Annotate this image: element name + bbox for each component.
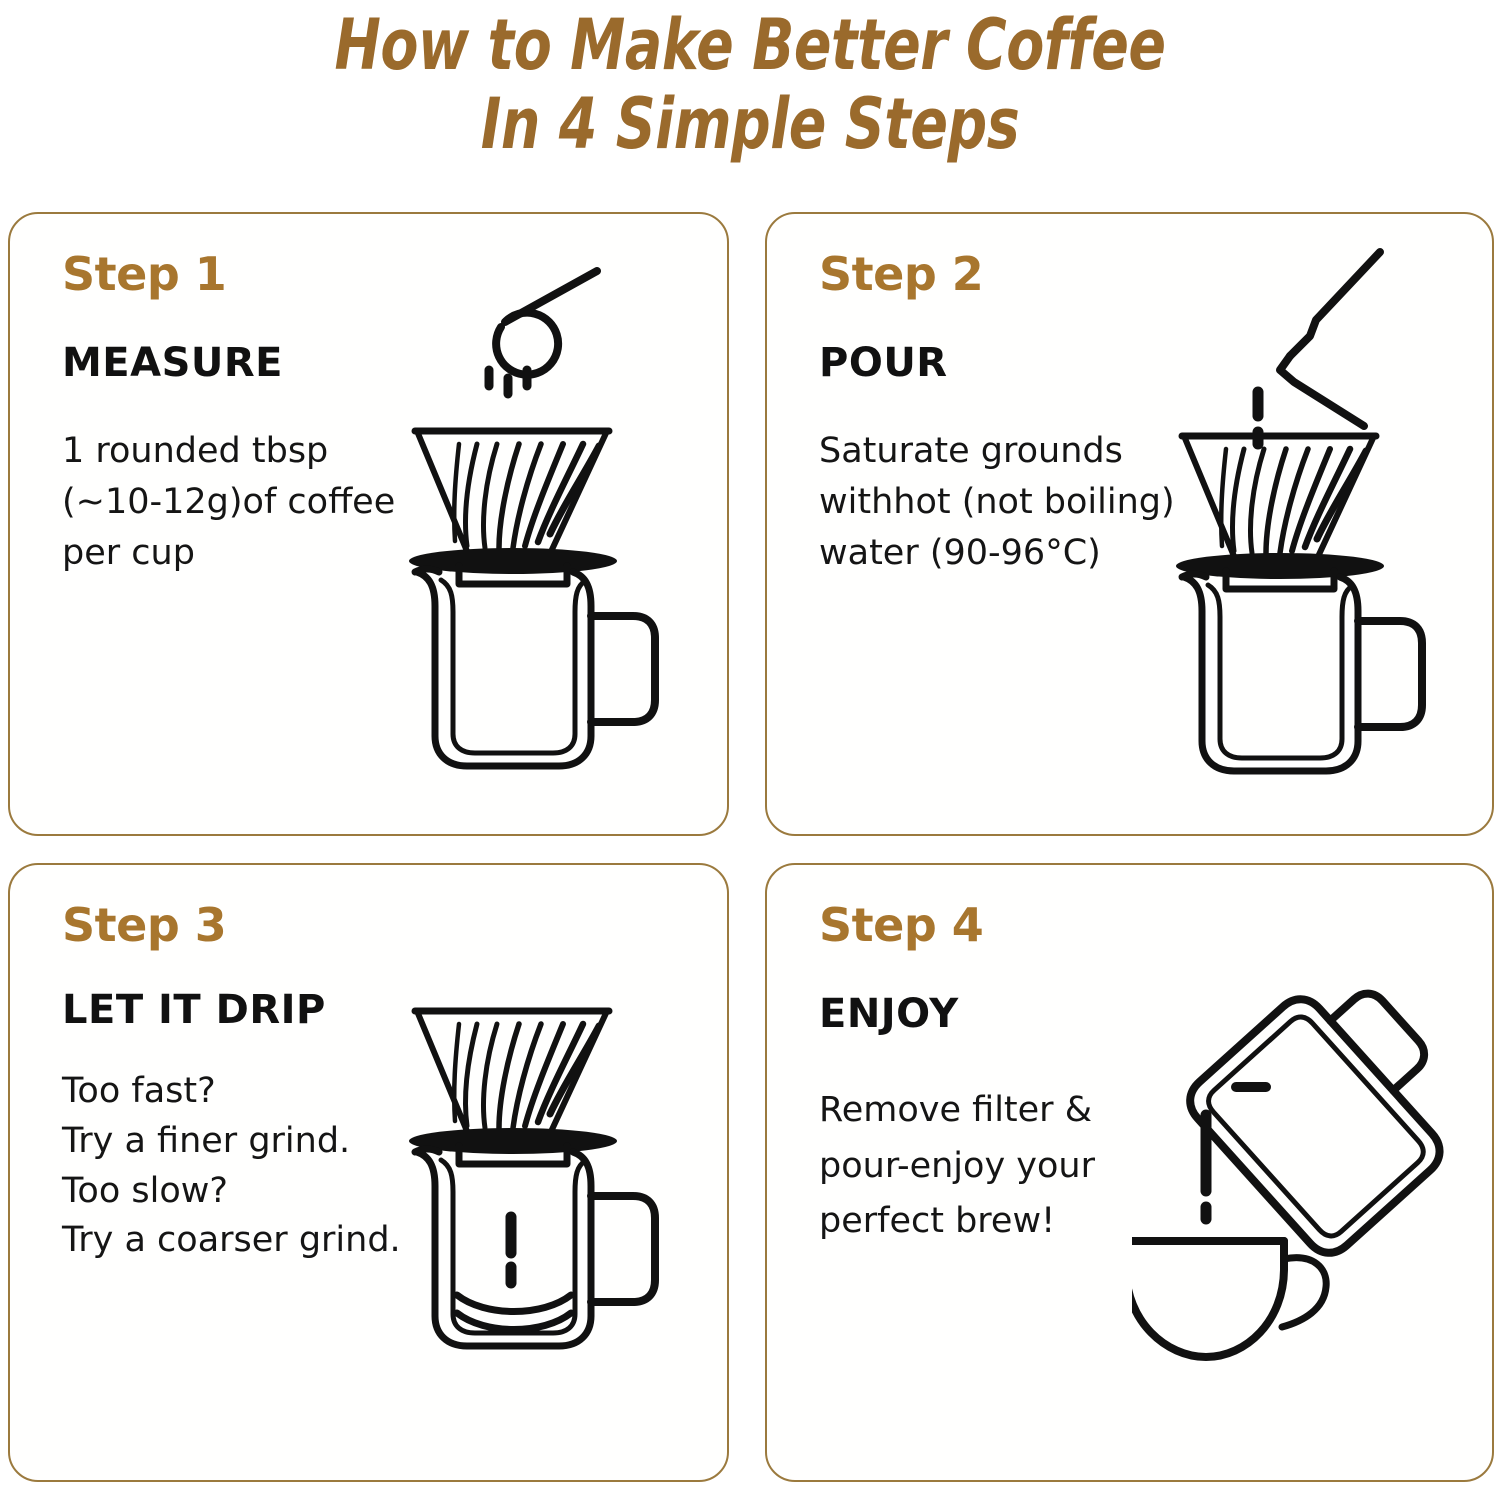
step-card-4-label: Step 4 <box>819 901 1225 949</box>
step-card-2-body-line-2: withhot (not boiling) <box>819 477 1225 528</box>
step-card-4[interactable]: Step 4 ENJOY Remove filter & pour-enjoy … <box>765 863 1494 1482</box>
step-card-2-body-line-1: Saturate grounds <box>819 426 1225 477</box>
step-card-2-action: POUR <box>819 342 1225 384</box>
page-title: How to Make Better Coffee In 4 Simple St… <box>0 0 1500 164</box>
step-card-2[interactable]: Step 2 POUR Saturate grounds withhot (no… <box>765 212 1494 836</box>
measure-illustration <box>401 254 721 834</box>
drip-illustration <box>401 995 721 1480</box>
page-title-line-1: How to Make Better Coffee <box>90 6 1410 85</box>
step-card-2-body: Saturate grounds withhot (not boiling) w… <box>819 426 1225 579</box>
step-card-3[interactable]: Step 3 LET IT DRIP Too fast? Try a finer… <box>8 863 729 1482</box>
step-card-2-text: Step 2 POUR Saturate grounds withhot (no… <box>819 250 1225 580</box>
step-card-2-label: Step 2 <box>819 250 1225 298</box>
step-card-3-label: Step 3 <box>62 901 464 949</box>
step-card-2-body-line-3: water (90-96°C) <box>819 528 1225 579</box>
page-title-line-2: In 4 Simple Steps <box>90 85 1410 164</box>
steps-grid: Step 1 MEASURE 1 rounded tbsp (~10-12g)o… <box>8 212 1494 1482</box>
pour-illustration <box>1168 244 1488 834</box>
step-card-1[interactable]: Step 1 MEASURE 1 rounded tbsp (~10-12g)o… <box>8 212 729 836</box>
enjoy-illustration <box>1132 975 1492 1480</box>
